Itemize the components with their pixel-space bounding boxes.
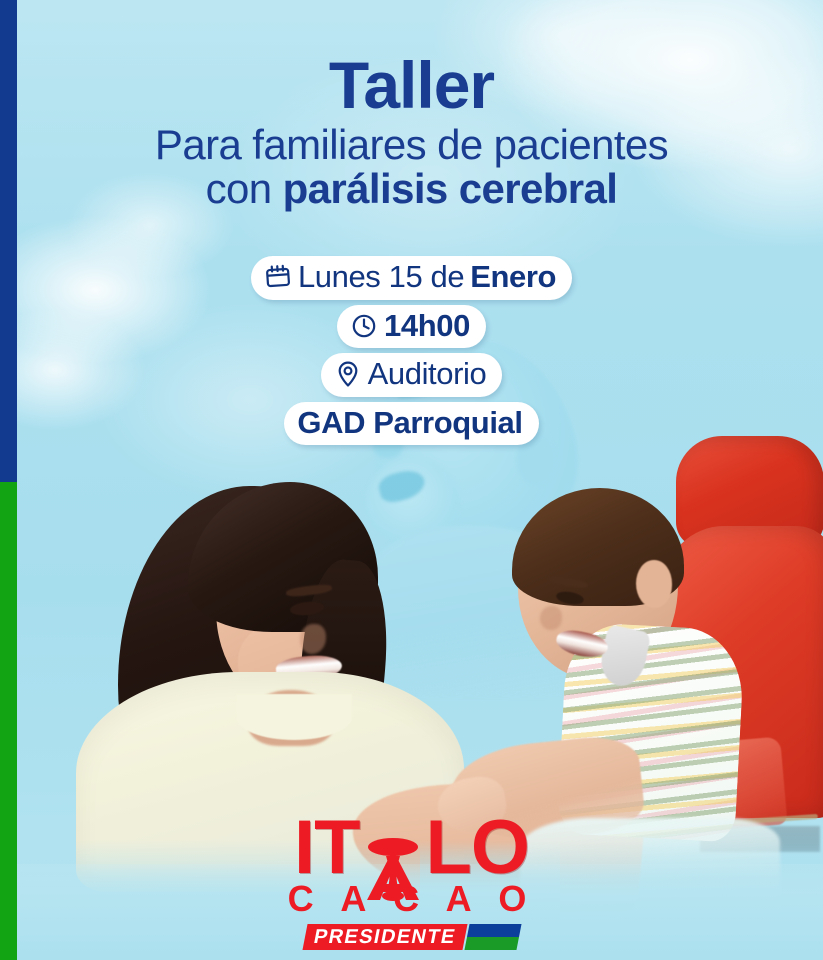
location-pin-icon	[334, 359, 362, 389]
logo-name-part2: LO	[426, 805, 530, 890]
detail-venue-text: Auditorio	[368, 356, 487, 393]
detail-date-text: Lunes 15 de	[298, 259, 464, 296]
event-poster: Taller Para familiares de pacientes con …	[0, 0, 823, 960]
logo-name-row: IT LO	[294, 812, 529, 884]
calendar-icon	[264, 262, 292, 292]
logo-role-badge: PRESIDENTE	[302, 924, 521, 950]
candidate-logo: IT LO C A C A O PRESIDENTE	[0, 812, 823, 950]
headline-subtitle-line2: con parálisis cerebral	[0, 168, 823, 210]
detail-date: Lunes 15 de Enero	[251, 256, 572, 300]
page-title: Taller	[0, 52, 823, 118]
boy-nose	[540, 606, 562, 630]
clock-icon	[350, 311, 378, 341]
detail-organization: GAD Parroquial	[284, 402, 538, 446]
logo-flag-icon	[464, 924, 521, 950]
hat-figure-icon	[360, 834, 426, 904]
logo-name-part1: IT	[294, 805, 360, 890]
detail-time-text: 14h00	[384, 308, 470, 345]
detail-venue: Auditorio	[321, 353, 503, 397]
event-details-list: Lunes 15 de Enero 14h00 Auditorio	[0, 256, 823, 450]
detail-organization-text: GAD Parroquial	[297, 405, 522, 442]
headline-subtitle-line1: Para familiares de pacientes	[0, 124, 823, 166]
detail-time: 14h00	[337, 305, 486, 349]
logo-role-text: PRESIDENTE	[302, 924, 467, 950]
poster-headline: Taller Para familiares de pacientes con …	[0, 52, 823, 210]
headline-subtitle-prefix: con	[206, 165, 283, 212]
woman-collar	[236, 694, 352, 740]
boy-ear	[636, 560, 672, 608]
detail-date-month: Enero	[470, 259, 556, 296]
headline-subtitle-emphasis: parálisis cerebral	[283, 165, 618, 212]
